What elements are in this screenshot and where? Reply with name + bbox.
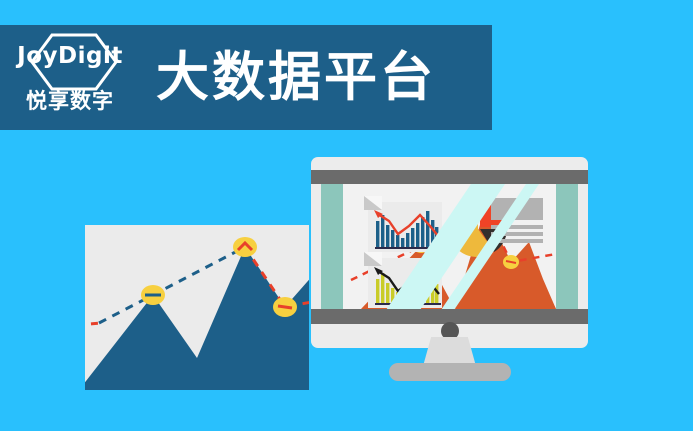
logo-subtitle: 悦享数字 [26,85,114,115]
header-banner: JoyDigit 悦享数字 大数据平台 [0,25,492,130]
mountain-trend-panel [85,225,309,390]
brand-logo: JoyDigit 悦享数字 [0,25,140,130]
node-glyph [278,306,292,308]
monitor-stand-base [389,363,511,381]
banner-canvas: JoyDigit 悦享数字 大数据平台 [0,0,693,431]
monitor-screen [321,184,578,309]
desktop-monitor [311,157,588,391]
page-title: 大数据平台 [156,51,436,104]
data-node [233,237,257,257]
bezel-top-bar [311,170,588,184]
mountain-shape-left [85,247,309,390]
trend-line-accent-left [85,323,101,325]
logo-wordmark: JoyDigit [17,43,123,69]
blue-mountain-chart [85,225,309,390]
monitor-bezel [311,157,588,348]
screen-side-strip-left [321,184,343,309]
screen-side-strip-right [556,184,578,309]
